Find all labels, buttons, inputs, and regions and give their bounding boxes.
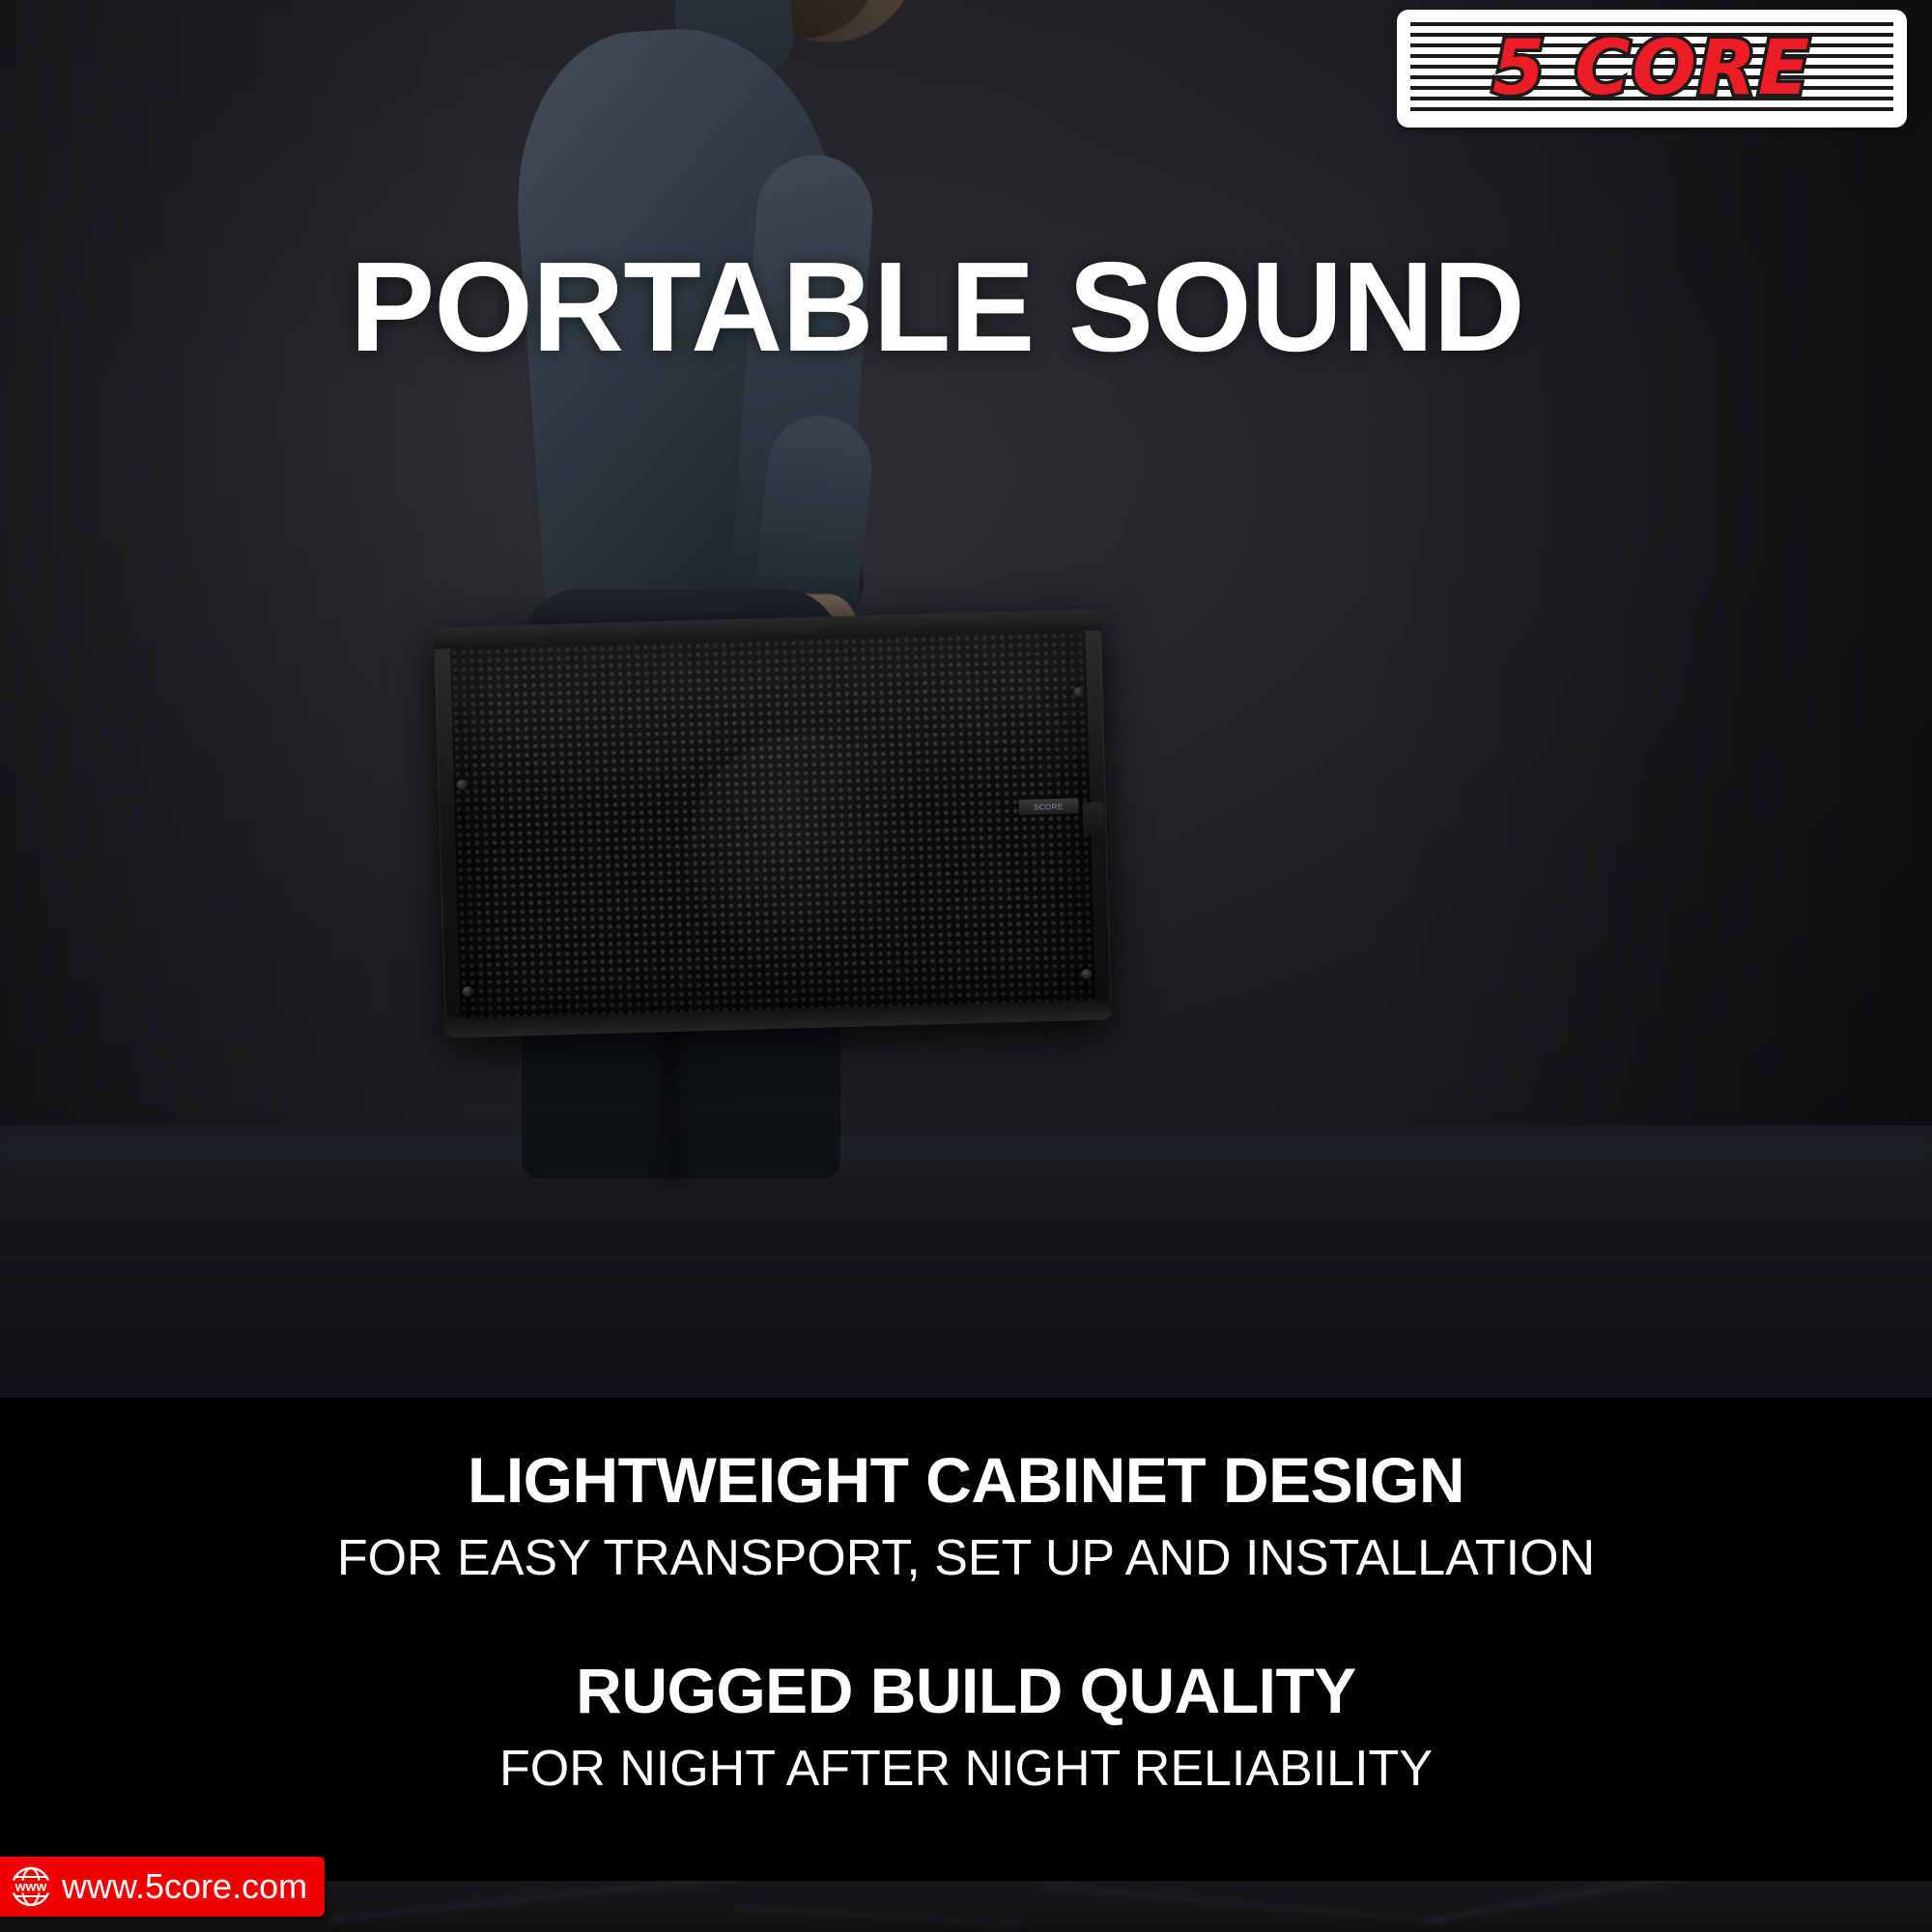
website-url-badge[interactable]: www www.5core.com <box>0 1857 325 1917</box>
feature-1-subtitle: FOR EASY TRANSPORT, SET UP AND INSTALLAT… <box>0 1533 1932 1583</box>
feature-1-title: LIGHTWEIGHT CABINET DESIGN <box>0 1448 1932 1512</box>
logo-wordmark-text: 5 CORE <box>1492 25 1811 112</box>
speaker-product: 5CORE <box>434 609 1112 1037</box>
footer-floor-detail-4 <box>734 1906 1024 1926</box>
page-title: PORTABLE SOUND <box>0 242 1932 373</box>
website-url-text: www.5core.com <box>62 1866 307 1907</box>
footer-floor-detail-2 <box>1044 1885 1449 1925</box>
marketing-banner: 5CORE PORTABLE SOUND 5 CORE LIGHTWEIGHT … <box>0 0 1932 1932</box>
feature-2-title: RUGGED BUILD QUALITY <box>0 1659 1932 1722</box>
feature-band: LIGHTWEIGHT CABINET DESIGN FOR EASY TRAN… <box>0 1398 1932 1881</box>
speaker-brand-badge: 5CORE <box>1018 798 1078 815</box>
footer-floor-detail-1 <box>329 1881 868 1922</box>
brand-logo: 5 CORE <box>1397 10 1907 128</box>
svg-text:www: www <box>14 1879 47 1894</box>
footer-floor-detail-3 <box>1432 1881 1794 1923</box>
floor-seam-line <box>0 1256 1932 1259</box>
logo-wordmark: 5 CORE <box>1397 10 1907 128</box>
hero-photo: 5CORE PORTABLE SOUND 5 CORE <box>0 0 1932 1398</box>
globe-www-icon: www <box>10 1865 52 1908</box>
feature-2-subtitle: FOR NIGHT AFTER NIGHT RELIABILITY <box>0 1744 1932 1794</box>
speaker-side-handle <box>1083 802 1105 836</box>
floor-seam-line-secondary <box>1140 1188 1932 1190</box>
